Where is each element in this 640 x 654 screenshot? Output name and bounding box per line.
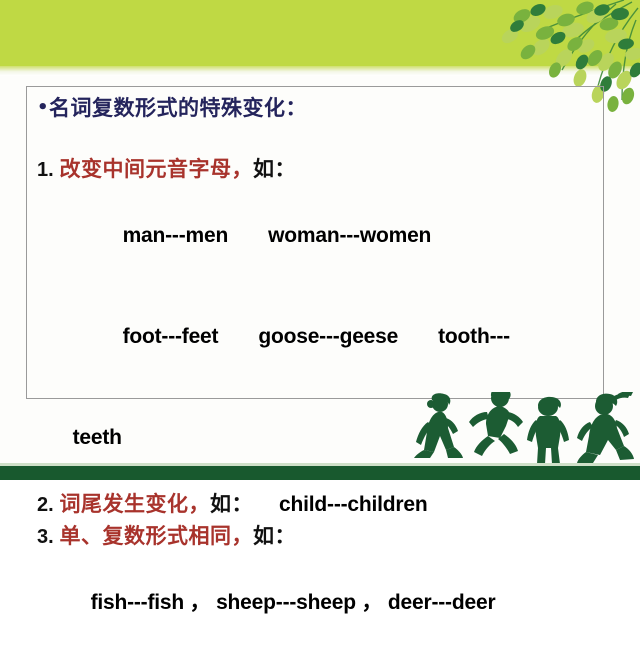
- rule-2-black-text: 如：: [210, 492, 253, 516]
- content-text-box: •名词复数形式的特殊变化： 1. 改变中间元音字母，如： man---menwo…: [26, 86, 604, 399]
- example-row-2: foot---feetgoose---geesetooth---: [37, 287, 597, 388]
- slide-canvas: •名词复数形式的特殊变化： 1. 改变中间元音字母，如： man---menwo…: [0, 0, 640, 480]
- bullet-glyph: •: [37, 97, 49, 118]
- example-row-1: man---menwoman---women: [37, 186, 597, 287]
- rule-2-number: 2.: [37, 494, 54, 516]
- rule-1-red-text: 改变中间元音字母，: [60, 157, 254, 181]
- rule-2-red-text: 词尾发生变化，: [60, 492, 211, 516]
- page-title-text: 名词复数形式的特殊变化：: [49, 96, 307, 120]
- header-green-band: [0, 0, 640, 72]
- example-2-c: tooth---: [438, 325, 510, 348]
- example-same-form-row: fish---fish ， sheep---sheep ， deer---dee…: [37, 553, 597, 654]
- page-title: •名词复数形式的特殊变化：: [37, 93, 597, 123]
- rule-2-example: child---children: [279, 493, 427, 516]
- rule-1-number: 1.: [37, 159, 54, 181]
- rule-3-red-text: 单、复数形式相同，: [60, 524, 254, 548]
- example-2-b: goose---geese: [258, 325, 398, 348]
- wrapped-word-text: teeth: [73, 426, 122, 449]
- spacer: [37, 129, 597, 154]
- same-form-examples: fish---fish ， sheep---sheep ， deer---dee…: [91, 591, 496, 614]
- rule-1-black-text: 如：: [253, 157, 296, 181]
- rule-item-2: 2. 词尾发生变化，如：child---children: [37, 489, 597, 521]
- rule-item-3: 3. 单、复数形式相同，如：: [37, 521, 597, 553]
- rule-3-black-text: 如：: [253, 524, 296, 548]
- bottom-green-bar: [0, 466, 640, 480]
- content-inner: •名词复数形式的特殊变化： 1. 改变中间元音字母，如： man---menwo…: [37, 93, 597, 654]
- example-1-a: man---men: [123, 224, 229, 247]
- example-1-b: woman---women: [268, 224, 431, 247]
- rule-3-number: 3.: [37, 526, 54, 548]
- example-2-a: foot---feet: [123, 325, 219, 348]
- rule-item-1: 1. 改变中间元音字母，如：: [37, 154, 597, 186]
- header-fade-strip: [0, 66, 640, 76]
